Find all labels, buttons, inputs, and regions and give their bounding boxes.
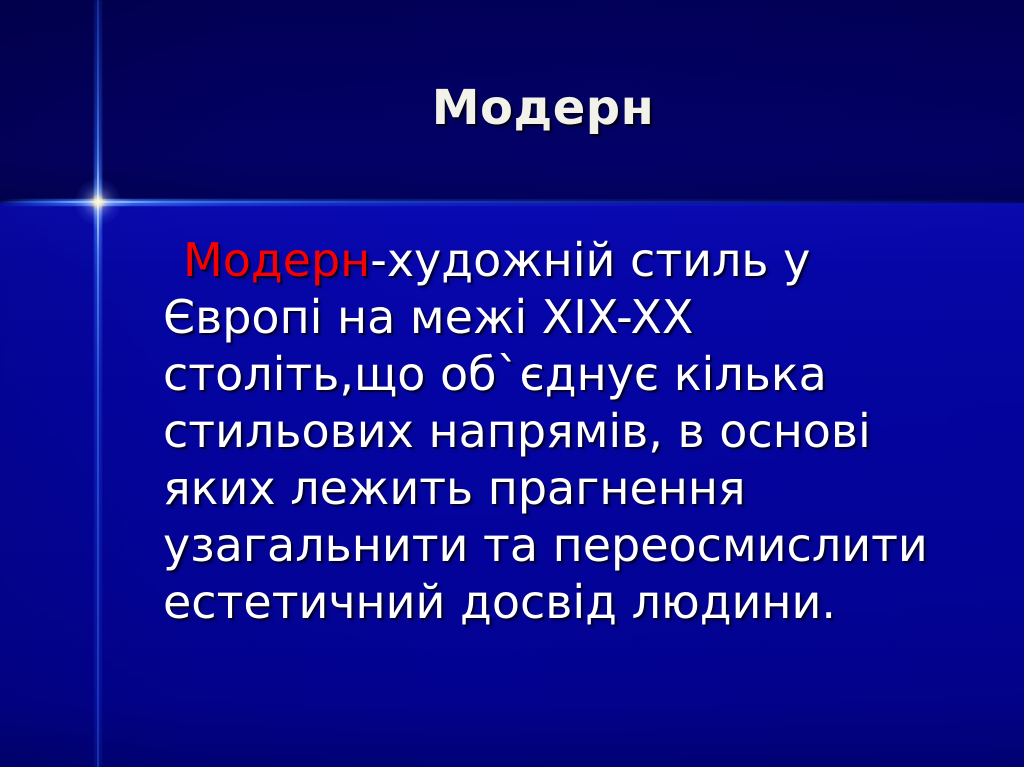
body-keyword: Модерн [183,233,370,287]
slide-title: Модерн [0,83,1024,133]
body-paragraph: Модерн-художній стиль у Європі на межі X… [163,232,963,631]
body-remainder: -художній стиль у Європі на межі XIX-XX … [163,233,942,629]
slide-body: Модерн-художній стиль у Європі на межі X… [163,232,963,631]
presentation-slide: Модерн Модерн-художній стиль у Європі на… [0,0,1024,767]
